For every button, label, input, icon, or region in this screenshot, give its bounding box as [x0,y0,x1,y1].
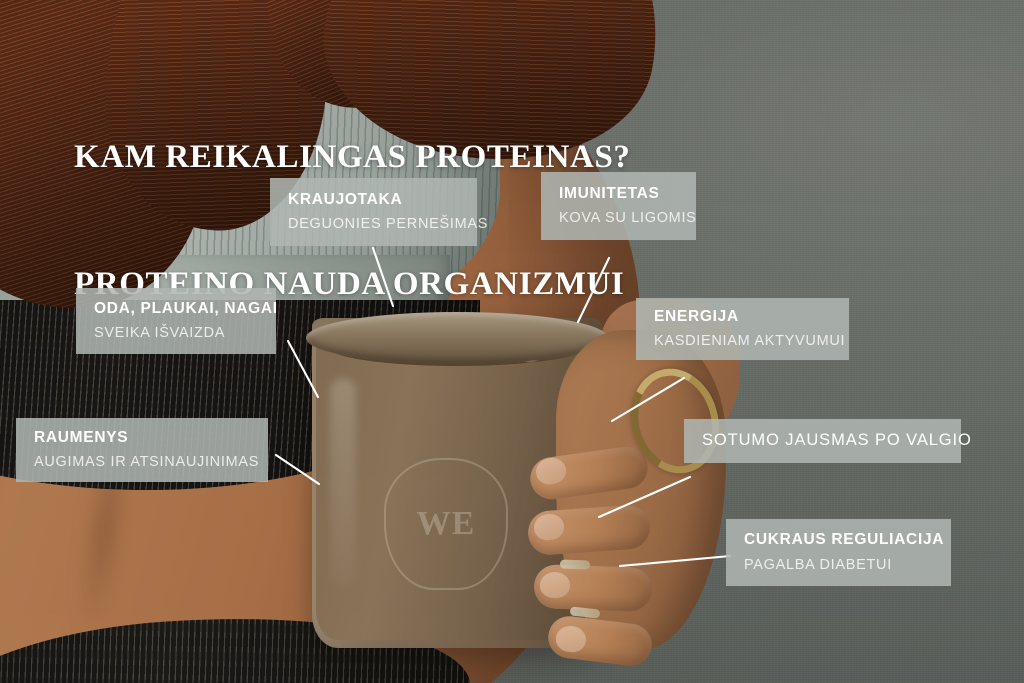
callout-title: IMUNITETAS [559,185,678,204]
callout-subtitle: PAGALBA DIABETUI [744,557,933,574]
callout-title: ODA, PLAUKAI, NAGAI [94,300,258,319]
infographic-canvas: WE KAM REIKALINGAS PROTEINAS? PROTEINO N… [0,0,1024,683]
callout-subtitle: SVEIKA IŠVAIZDA [94,325,258,342]
callout-cukraus-reguliacija[interactable]: CUKRAUS REGULIACIJAPAGALBA DIABETUI [726,519,951,586]
callout-title: KRAUJOTAKA [288,191,459,210]
callout-kraujotaka[interactable]: KRAUJOTAKADEGUONIES PERNEŠIMAS [270,178,477,246]
callout-subtitle: KOVA SU LIGOMIS [559,210,678,227]
callout-title: RAUMENYS [34,429,250,448]
callout-imunitetas[interactable]: IMUNITETASKOVA SU LIGOMIS [541,172,696,240]
callout-subtitle: DEGUONIES PERNEŠIMAS [288,216,459,233]
callout-sotumo-jausmas[interactable]: SOTUMO JAUSMAS PO VALGIO [684,419,961,463]
callout-subtitle: AUGIMAS IR ATSINAUJINIMAS [34,454,250,471]
callout-energija[interactable]: ENERGIJAKASDIENIAM AKTYVUMUI [636,298,849,360]
callout-title: ENERGIJA [654,308,831,327]
callout-subtitle: KASDIENIAM AKTYVUMUI [654,333,831,350]
callout-title: CUKRAUS REGULIACIJA [744,531,933,550]
callout-title: SOTUMO JAUSMAS PO VALGIO [702,431,943,451]
callout-oda-plaukai-nagai[interactable]: ODA, PLAUKAI, NAGAISVEIKA IŠVAIZDA [76,288,276,354]
callout-raumenys[interactable]: RAUMENYSAUGIMAS IR ATSINAUJINIMAS [16,418,268,482]
